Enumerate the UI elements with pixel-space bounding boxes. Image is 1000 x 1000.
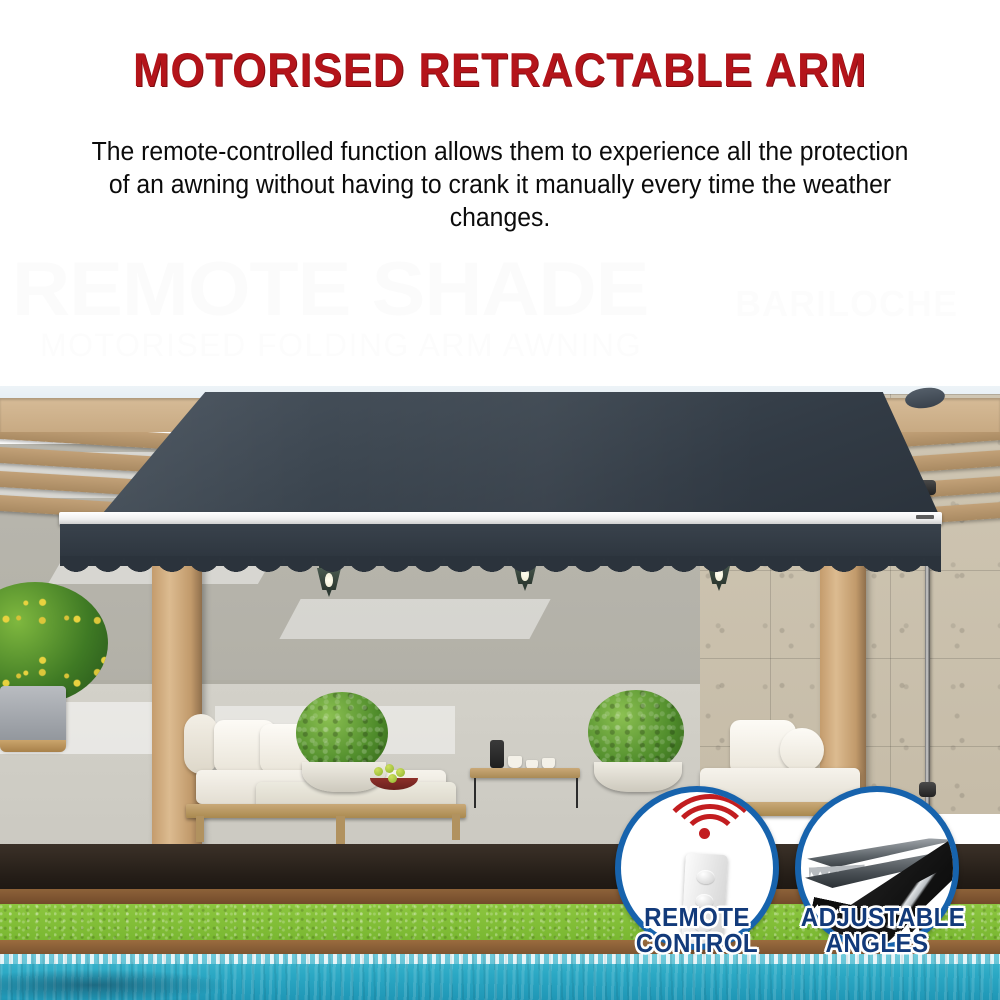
watermark-brand-text: BARILOCHE [735, 283, 958, 325]
badge-label-remote-control: REMOTE CONTROL [621, 904, 774, 956]
badge-label-adjustable-angles: ADJUSTABLE ANGLES [801, 904, 954, 956]
signal-source-icon [699, 828, 710, 839]
apple [388, 774, 397, 783]
feature-badge-adjustable-angles[interactable]: ADJUSTABLE ANGLES [795, 786, 959, 1000]
feature-badge-remote-control[interactable]: REMOTE CONTROL [615, 786, 779, 1000]
awning-scalloped-edge [60, 556, 941, 578]
headline-title: MOTORISED RETRACTABLE ARM [35, 42, 965, 97]
pool-shadow [0, 969, 230, 1000]
watermark-sub-text: MOTORISED FOLDING ARM AWNING [40, 327, 642, 364]
headline-description: The remote-controlled function allows th… [83, 136, 917, 235]
lemon-tree-pot [0, 686, 66, 748]
awning-canopy-fabric [60, 392, 940, 517]
awning-front-bar-endcap [916, 515, 934, 519]
apple [396, 768, 405, 777]
product-marketing-image: REMOTE SHADE BARILOCHE MOTORISED FOLDING… [0, 0, 1000, 1000]
retractable-awning [0, 384, 1000, 584]
sun-patch [279, 599, 550, 639]
apple [385, 764, 394, 773]
remote-button [696, 870, 715, 885]
header-band: REMOTE SHADE BARILOCHE MOTORISED FOLDING… [0, 0, 1000, 386]
watermark-main-text: REMOTE SHADE [12, 246, 648, 333]
awning-roller-cassette [904, 385, 946, 410]
lemon-tree-pot-rim [0, 740, 66, 752]
apple [374, 767, 383, 776]
